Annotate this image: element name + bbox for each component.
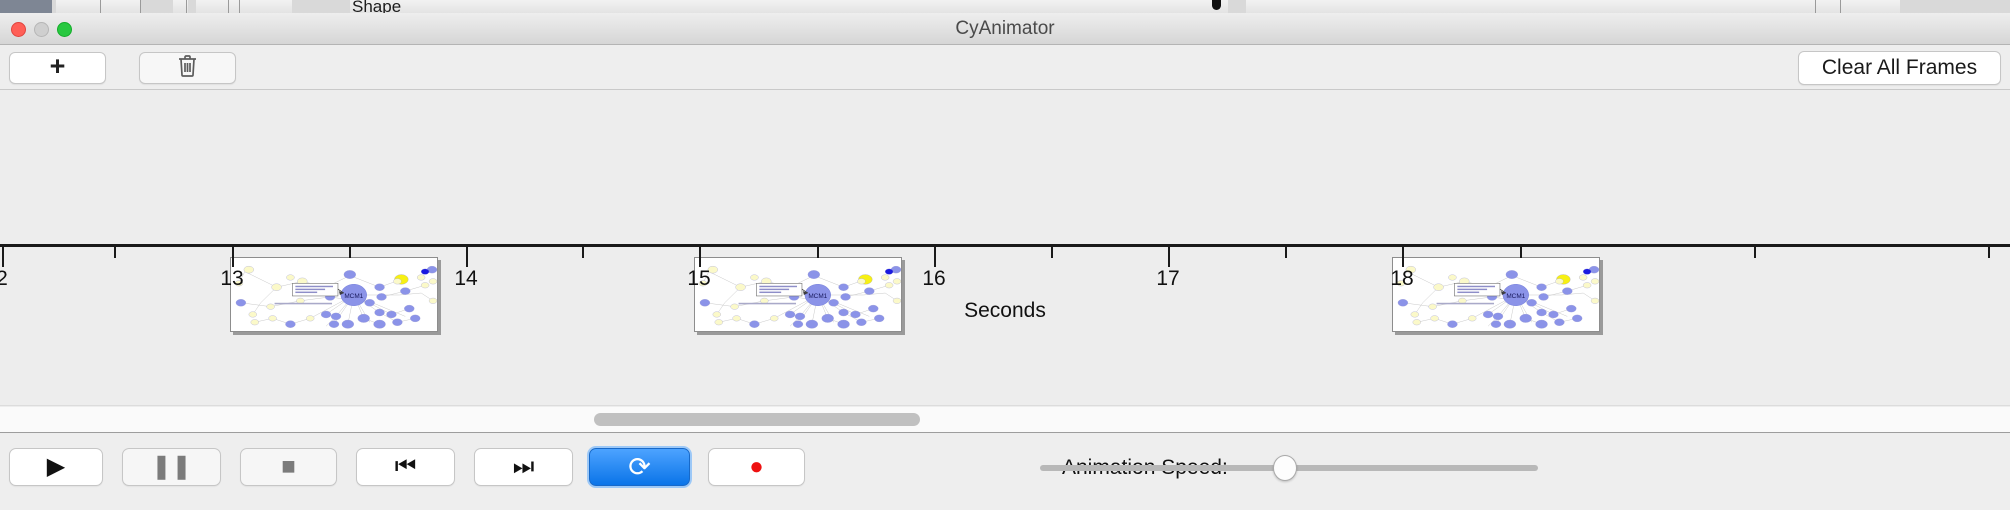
record-button[interactable]: ● — [708, 448, 805, 486]
timeline-tick-minor — [1988, 247, 1990, 258]
plus-icon: + — [50, 53, 66, 80]
background-window-cursor-artifact — [1212, 0, 1221, 10]
stop-icon: ■ — [281, 455, 296, 479]
timeline-tick-label: 13 — [220, 267, 243, 291]
timeline-tick-major — [1168, 247, 1170, 267]
background-window-strip: Shape — [0, 0, 2010, 13]
scrollbar-thumb[interactable] — [594, 413, 920, 426]
pause-button[interactable]: ❚❚ — [122, 448, 221, 486]
timeline-tick-minor — [1285, 247, 1287, 258]
timeline-axis-line — [0, 244, 2010, 247]
transport-bar: ▶❚❚■⏮⏭⟳● Animation Speed: — [0, 434, 2010, 510]
background-window-divider — [1815, 0, 1816, 13]
background-window-label: Shape — [352, 0, 401, 13]
timeline-tick-minor — [582, 247, 584, 258]
timeline-tick-label: 17 — [1156, 267, 1179, 291]
timeline-tick-major — [1402, 247, 1404, 267]
background-window-chunk — [1900, 0, 2010, 13]
timeline-tick-major — [2, 247, 4, 267]
loop-icon: ⟳ — [628, 454, 651, 481]
background-window-divider — [228, 0, 229, 13]
frame-toolbar: + Clear All Frames — [0, 45, 2010, 90]
skip-to-start-button[interactable]: ⏮ — [356, 448, 455, 486]
background-window-divider — [239, 0, 240, 13]
timeline-horizontal-scrollbar[interactable] — [0, 407, 2010, 433]
background-window-chunk — [141, 0, 173, 13]
record-icon: ● — [749, 455, 764, 479]
timeline-tick-major — [699, 247, 701, 267]
title-bar: CyAnimator — [0, 13, 2010, 45]
play-button[interactable]: ▶ — [9, 448, 103, 486]
delete-frame-button[interactable] — [139, 52, 236, 84]
timeline-tick-minor — [817, 247, 819, 258]
timeline-panel[interactable]: MCM1MCM1MCM1 2131415161718 Seconds — [0, 91, 2010, 406]
timeline-tick-minor — [114, 247, 116, 258]
window-title: CyAnimator — [0, 13, 2010, 45]
timeline-tick-label: 18 — [1390, 267, 1413, 291]
background-window-divider — [186, 0, 187, 13]
cyanimator-window: Shape CyAnimator + — [0, 0, 2010, 510]
background-window-chunk — [292, 0, 350, 13]
animation-speed-slider-thumb[interactable] — [1273, 455, 1297, 481]
timeline-tick-minor — [349, 247, 351, 258]
background-window-chunk — [1228, 0, 1246, 13]
skip-back-icon: ⏮ — [395, 455, 417, 479]
clear-all-frames-button[interactable]: Clear All Frames — [1798, 51, 2001, 85]
timeline-tick-label: 16 — [922, 267, 945, 291]
skip-to-end-button[interactable]: ⏭ — [474, 448, 573, 486]
loop-button[interactable]: ⟳ — [589, 448, 690, 486]
skip-forward-icon: ⏭ — [513, 455, 535, 479]
timeline-tick-minor — [1520, 247, 1522, 258]
background-window-dark-chunk — [0, 0, 52, 13]
add-frame-button[interactable]: + — [9, 52, 106, 84]
play-icon: ▶ — [47, 455, 65, 479]
background-window-chunk — [52, 0, 56, 13]
timeline-axis-title: Seconds — [0, 299, 2010, 323]
timeline-tick-major — [466, 247, 468, 267]
timeline-tick-minor — [1051, 247, 1053, 258]
background-window-divider — [100, 0, 101, 13]
trash-icon — [177, 54, 198, 83]
clear-all-frames-label: Clear All Frames — [1822, 56, 1977, 80]
background-window-chunk — [188, 0, 196, 13]
pause-icon: ❚❚ — [151, 455, 191, 479]
timeline-tick-minor — [1754, 247, 1756, 258]
timeline-tick-major — [232, 247, 234, 267]
stop-button[interactable]: ■ — [240, 448, 337, 486]
timeline-tick-label: 14 — [454, 267, 477, 291]
timeline-tick-label: 2 — [0, 267, 8, 291]
timeline-tick-major — [934, 247, 936, 267]
background-window-divider — [1840, 0, 1841, 13]
timeline-tick-label: 15 — [687, 267, 710, 291]
